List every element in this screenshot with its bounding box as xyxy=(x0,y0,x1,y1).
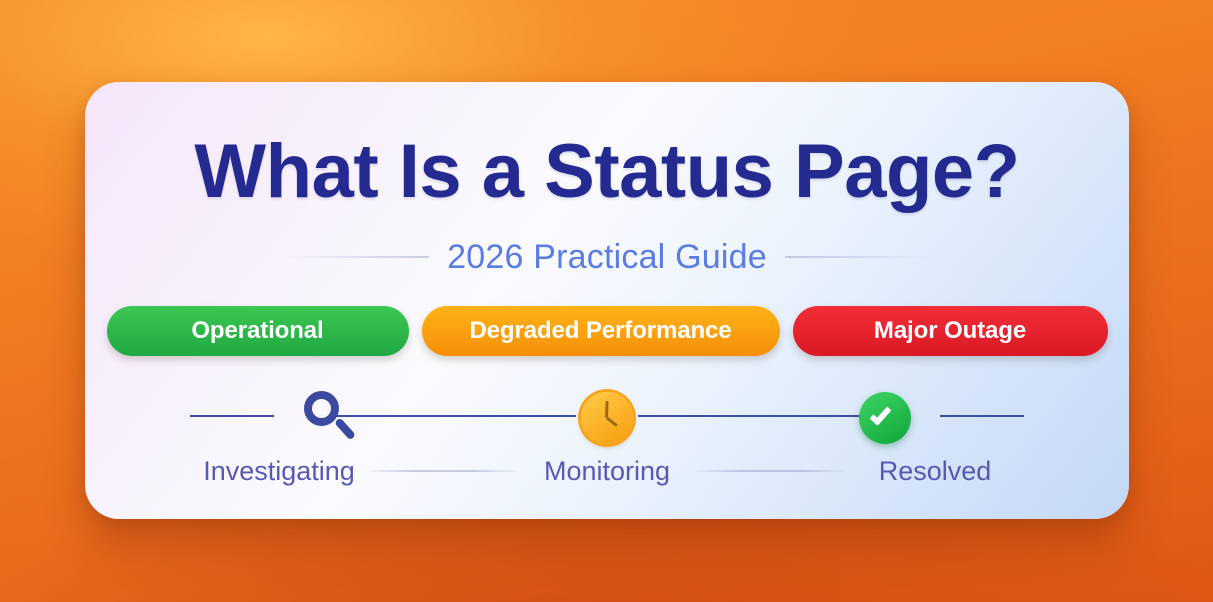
status-pill-degraded-performance-label: Degraded Performance xyxy=(469,317,731,345)
clock-icon xyxy=(579,390,635,446)
page-title: What Is a Status Page? xyxy=(85,134,1129,210)
timeline-label-investigating: Investigating xyxy=(190,456,368,487)
status-page-card: What Is a Status Page? 2026 Practical Gu… xyxy=(85,82,1129,519)
page-subtitle: 2026 Practical Guide xyxy=(447,238,767,277)
status-pill-major-outage-label: Major Outage xyxy=(874,317,1026,345)
timeline-node-resolved[interactable] xyxy=(746,387,1024,449)
subtitle-rule-right xyxy=(785,256,927,258)
status-pill-operational-label: Operational xyxy=(191,317,323,345)
timeline-node-investigating[interactable] xyxy=(190,387,468,449)
status-pill-degraded-performance[interactable]: Degraded Performance xyxy=(422,306,780,356)
incident-timeline: Investigating Monitoring Resolved xyxy=(190,387,1024,497)
timeline-label-rule-2 xyxy=(696,470,846,472)
magnifying-glass-icon xyxy=(301,390,357,446)
status-pill-row: Operational Degraded Performance Major O… xyxy=(85,306,1129,356)
status-pill-operational[interactable]: Operational xyxy=(107,306,409,356)
timeline-labels: Investigating Monitoring Resolved xyxy=(190,449,1024,493)
timeline-label-resolved: Resolved xyxy=(846,456,1024,487)
timeline-nodes xyxy=(190,387,1024,449)
timeline-node-monitoring[interactable] xyxy=(468,387,746,449)
timeline-label-monitoring: Monitoring xyxy=(518,456,696,487)
title-block: What Is a Status Page? xyxy=(85,134,1129,210)
status-pill-major-outage[interactable]: Major Outage xyxy=(793,306,1108,356)
subtitle-row: 2026 Practical Guide xyxy=(85,234,1129,280)
check-circle-icon xyxy=(857,390,913,446)
timeline-label-rule-1 xyxy=(368,470,518,472)
card-content: What Is a Status Page? 2026 Practical Gu… xyxy=(85,82,1129,519)
subtitle-rule-left xyxy=(287,256,429,258)
